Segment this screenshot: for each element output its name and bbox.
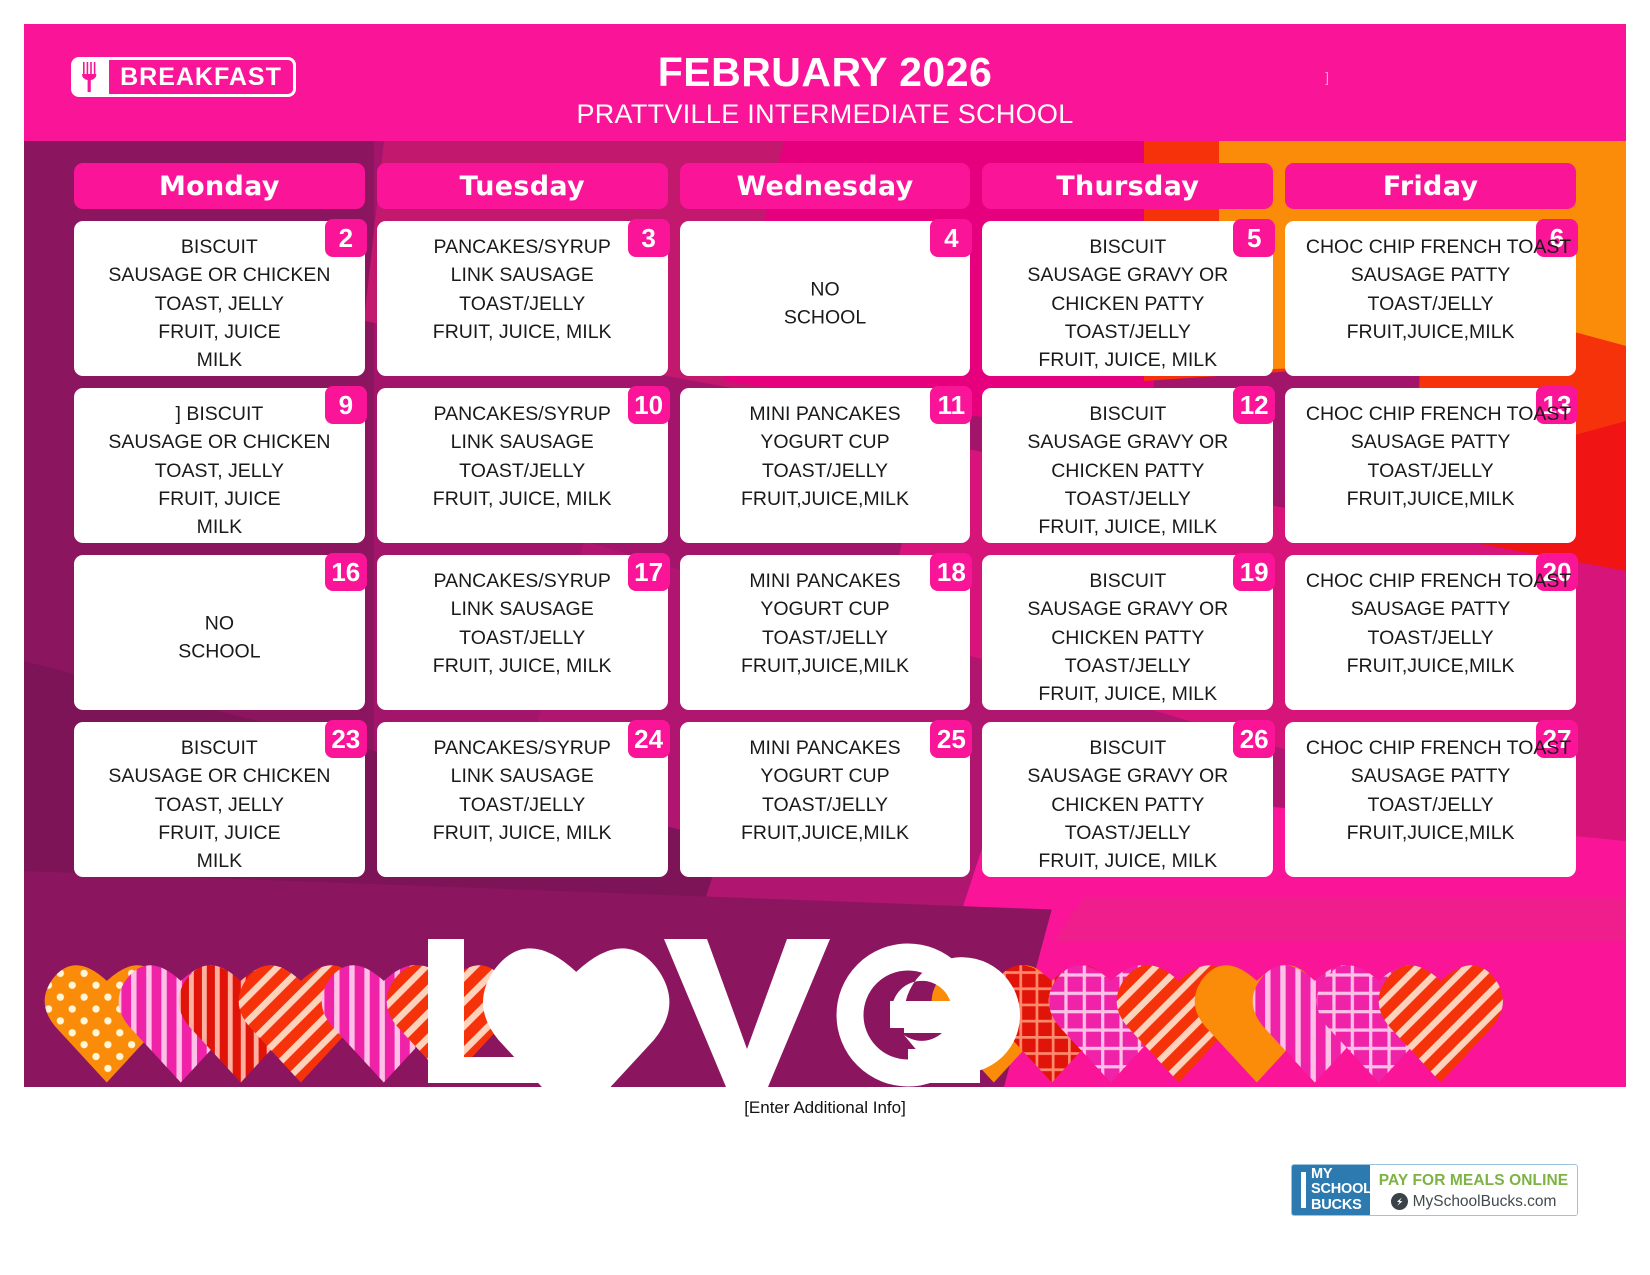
menu-line: BISCUIT <box>992 400 1263 428</box>
date-badge: 5 <box>1233 219 1275 257</box>
menu-line: TOAST/JELLY <box>387 624 658 652</box>
menu-line: YOGURT CUP <box>690 595 961 623</box>
menu-text: CHOC CHIP FRENCH TOASTSAUSAGE PATTYTOAST… <box>1295 233 1566 346</box>
menu-line: SAUSAGE GRAVY OR <box>992 261 1263 289</box>
calendar-day-23[interactable]: 23BISCUITSAUSAGE OR CHICKENTOAST, JELLYF… <box>74 722 365 877</box>
menu-line: LINK SAUSAGE <box>387 762 658 790</box>
menu-line: TOAST/JELLY <box>992 318 1263 346</box>
menu-line: CHICKEN PATTY <box>992 791 1263 819</box>
menu-line: TOAST/JELLY <box>1295 457 1566 485</box>
msb-brand-line3: BUCKS <box>1311 1198 1372 1214</box>
menu-line: MINI PANCAKES <box>690 567 961 595</box>
date-badge: 26 <box>1233 720 1275 758</box>
menu-text: MINI PANCAKESYOGURT CUPTOAST/JELLYFRUIT,… <box>690 567 961 680</box>
week-row: 16NOSCHOOL17PANCAKES/SYRUPLINK SAUSAGETO… <box>74 555 1576 710</box>
msb-brand-line2: SCHOOL <box>1311 1182 1372 1198</box>
menu-text: MINI PANCAKESYOGURT CUPTOAST/JELLYFRUIT,… <box>690 400 961 513</box>
calendar-day-11[interactable]: 11MINI PANCAKESYOGURT CUPTOAST/JELLYFRUI… <box>680 388 971 543</box>
menu-line: TOAST/JELLY <box>992 652 1263 680</box>
menu-line: FRUIT, JUICE <box>84 485 355 513</box>
menu-line: BISCUIT <box>84 734 355 762</box>
menu-line: MILK <box>84 513 355 541</box>
menu-line: MILK <box>84 847 355 875</box>
menu-line: CHOC CHIP FRENCH TOAST <box>1303 567 1574 595</box>
menu-line: BISCUIT <box>992 734 1263 762</box>
menu-line: FRUIT,JUICE,MILK <box>1295 819 1566 847</box>
calendar-day-20[interactable]: 20CHOC CHIP FRENCH TOASTSAUSAGE PATTYTOA… <box>1285 555 1576 710</box>
date-badge: 11 <box>930 386 972 424</box>
menu-line: MILK <box>84 346 355 374</box>
calendar-day-6[interactable]: 6CHOC CHIP FRENCH TOASTSAUSAGE PATTYTOAS… <box>1285 221 1576 376</box>
menu-line: FRUIT, JUICE, MILK <box>992 346 1263 374</box>
love-artwork <box>24 897 1626 1087</box>
menu-line: CHICKEN PATTY <box>992 290 1263 318</box>
msb-brand-line1: MY <box>1311 1167 1372 1183</box>
menu-line: CHOC CHIP FRENCH TOAST <box>1303 734 1574 762</box>
day-header-friday: Friday <box>1285 163 1576 209</box>
menu-line: SCHOOL <box>680 303 971 331</box>
additional-info: [Enter Additional Info] <box>0 1098 1650 1118</box>
menu-line: LINK SAUSAGE <box>387 595 658 623</box>
menu-line: CHOC CHIP FRENCH TOAST <box>1303 400 1574 428</box>
menu-line: PANCAKES/SYRUP <box>387 233 658 261</box>
msb-brand-text: MY SCHOOL BUCKS <box>1311 1167 1372 1214</box>
menu-line: TOAST/JELLY <box>992 819 1263 847</box>
menu-line: FRUIT, JUICE, MILK <box>387 819 658 847</box>
page-header: BREAKFAST FEBRUARY 2026 PRATTVILLE INTER… <box>24 24 1626 141</box>
menu-line: TOAST/JELLY <box>387 457 658 485</box>
msb-url: MySchoolBucks.com <box>1413 1193 1557 1211</box>
menu-line: FRUIT, JUICE, MILK <box>387 485 658 513</box>
menu-line: PANCAKES/SYRUP <box>387 734 658 762</box>
menu-line: TOAST/JELLY <box>992 485 1263 513</box>
menu-line: TOAST, JELLY <box>84 290 355 318</box>
menu-line: SAUSAGE OR CHICKEN <box>84 428 355 456</box>
calendar-day-12[interactable]: 12BISCUITSAUSAGE GRAVY ORCHICKEN PATTYTO… <box>982 388 1273 543</box>
menu-line: BISCUIT <box>992 233 1263 261</box>
menu-line: SAUSAGE OR CHICKEN <box>84 762 355 790</box>
menu-text: NOSCHOOL <box>74 609 365 666</box>
menu-text: BISCUITSAUSAGE GRAVY ORCHICKEN PATTYTOAS… <box>992 400 1263 541</box>
menu-text: PANCAKES/SYRUPLINK SAUSAGETOAST/JELLYFRU… <box>387 734 658 847</box>
menu-line: TOAST, JELLY <box>84 791 355 819</box>
menu-line: SAUSAGE PATTY <box>1295 428 1566 456</box>
menu-line: TOAST/JELLY <box>387 791 658 819</box>
calendar-day-19[interactable]: 19BISCUITSAUSAGE GRAVY ORCHICKEN PATTYTO… <box>982 555 1273 710</box>
menu-text: BISCUITSAUSAGE GRAVY ORCHICKEN PATTYTOAS… <box>992 233 1263 374</box>
date-badge: 9 <box>325 386 367 424</box>
menu-line: CHICKEN PATTY <box>992 457 1263 485</box>
menu-line: BISCUIT <box>84 233 355 261</box>
menu-line: TOAST/JELLY <box>690 791 961 819</box>
calendar-day-4[interactable]: 4NOSCHOOL <box>680 221 971 376</box>
calendar-day-17[interactable]: 17PANCAKES/SYRUPLINK SAUSAGETOAST/JELLYF… <box>377 555 668 710</box>
menu-text: BISCUITSAUSAGE GRAVY ORCHICKEN PATTYTOAS… <box>992 567 1263 708</box>
menu-line: SAUSAGE GRAVY OR <box>992 595 1263 623</box>
date-badge: 19 <box>1233 553 1275 591</box>
menu-line: TOAST/JELLY <box>1295 624 1566 652</box>
day-header-thursday: Thursday <box>982 163 1273 209</box>
menu-line: NO <box>74 609 365 637</box>
menu-line: FRUIT, JUICE, MILK <box>992 847 1263 875</box>
menu-line: SAUSAGE PATTY <box>1295 261 1566 289</box>
menu-text: PANCAKES/SYRUPLINK SAUSAGETOAST/JELLYFRU… <box>387 233 658 346</box>
menu-line: TOAST/JELLY <box>690 624 961 652</box>
menu-line: TOAST/JELLY <box>387 290 658 318</box>
menu-line: SAUSAGE PATTY <box>1295 595 1566 623</box>
school-name: PRATTVILLE INTERMEDIATE SCHOOL <box>24 99 1626 130</box>
menu-line: MINI PANCAKES <box>690 734 961 762</box>
day-header-label: Monday <box>159 171 280 202</box>
menu-text: CHOC CHIP FRENCH TOASTSAUSAGE PATTYTOAST… <box>1295 567 1566 680</box>
menu-line: FRUIT,JUICE,MILK <box>1295 652 1566 680</box>
date-badge: 16 <box>325 553 367 591</box>
menu-text: BISCUITSAUSAGE OR CHICKENTOAST, JELLYFRU… <box>84 734 355 875</box>
menu-line: FRUIT, JUICE, MILK <box>992 513 1263 541</box>
date-badge: 25 <box>930 720 972 758</box>
menu-line: TOAST/JELLY <box>1295 791 1566 819</box>
menu-line: FRUIT, JUICE, MILK <box>387 318 658 346</box>
menu-line: YOGURT CUP <box>690 428 961 456</box>
menu-text: CHOC CHIP FRENCH TOASTSAUSAGE PATTYTOAST… <box>1295 734 1566 847</box>
calendar-grid: MondayTuesdayWednesdayThursdayFriday 2BI… <box>24 141 1626 901</box>
day-header-label: Friday <box>1383 171 1478 202</box>
calendar-day-18[interactable]: 18MINI PANCAKESYOGURT CUPTOAST/JELLYFRUI… <box>680 555 971 710</box>
menu-line: PANCAKES/SYRUP <box>387 400 658 428</box>
date-badge: 2 <box>325 219 367 257</box>
menu-line: ] BISCUIT <box>84 400 355 428</box>
menu-line: SCHOOL <box>74 637 365 665</box>
date-badge: 23 <box>325 720 367 758</box>
calendar-day-24[interactable]: 24PANCAKES/SYRUPLINK SAUSAGETOAST/JELLYF… <box>377 722 668 877</box>
day-header-wednesday: Wednesday <box>680 163 971 209</box>
date-badge: 24 <box>628 720 670 758</box>
day-header-tuesday: Tuesday <box>377 163 668 209</box>
menu-line: NO <box>680 275 971 303</box>
menu-line: CHICKEN PATTY <box>992 624 1263 652</box>
menu-line: TOAST/JELLY <box>690 457 961 485</box>
menu-line: LINK SAUSAGE <box>387 261 658 289</box>
menu-line: FRUIT, JUICE, MILK <box>387 652 658 680</box>
calendar-day-10[interactable]: 10PANCAKES/SYRUPLINK SAUSAGETOAST/JELLYF… <box>377 388 668 543</box>
menu-line: SAUSAGE PATTY <box>1295 762 1566 790</box>
menu-line: SAUSAGE OR CHICKEN <box>84 261 355 289</box>
menu-line: FRUIT, JUICE <box>84 819 355 847</box>
menu-line: SAUSAGE GRAVY OR <box>992 428 1263 456</box>
menu-text: BISCUITSAUSAGE GRAVY ORCHICKEN PATTYTOAS… <box>992 734 1263 875</box>
love-decoration <box>24 897 1626 1087</box>
date-badge: 18 <box>930 553 972 591</box>
date-badge: 4 <box>930 219 972 257</box>
date-badge: 12 <box>1233 386 1275 424</box>
calendar-page: BREAKFAST FEBRUARY 2026 PRATTVILLE INTER… <box>0 0 1650 1275</box>
menu-line: FRUIT, JUICE, MILK <box>992 680 1263 708</box>
day-header-row: MondayTuesdayWednesdayThursdayFriday <box>74 163 1576 209</box>
calendar-day-2[interactable]: 2BISCUITSAUSAGE OR CHICKENTOAST, JELLYFR… <box>74 221 365 376</box>
menu-line: YOGURT CUP <box>690 762 961 790</box>
menu-line: FRUIT,JUICE,MILK <box>1295 318 1566 346</box>
day-header-label: Wednesday <box>736 171 913 202</box>
menu-line: SAUSAGE GRAVY OR <box>992 762 1263 790</box>
menu-line: FRUIT, JUICE <box>84 318 355 346</box>
menu-text: PANCAKES/SYRUPLINK SAUSAGETOAST/JELLYFRU… <box>387 567 658 680</box>
menu-text: BISCUITSAUSAGE OR CHICKENTOAST, JELLYFRU… <box>84 233 355 374</box>
calendar-board: MondayTuesdayWednesdayThursdayFriday 2BI… <box>24 141 1626 1087</box>
calendar-day-9[interactable]: 9] BISCUITSAUSAGE OR CHICKENTOAST, JELLY… <box>74 388 365 543</box>
menu-line: CHOC CHIP FRENCH TOAST <box>1303 233 1574 261</box>
menu-line: MINI PANCAKES <box>690 400 961 428</box>
msb-circle-icon <box>1391 1193 1408 1210</box>
msb-bar-icon <box>1301 1172 1306 1208</box>
menu-line: FRUIT,JUICE,MILK <box>690 819 961 847</box>
msb-url-row[interactable]: MySchoolBucks.com <box>1391 1193 1557 1211</box>
menu-text: NOSCHOOL <box>680 275 971 332</box>
week-rows: 2BISCUITSAUSAGE OR CHICKENTOAST, JELLYFR… <box>74 221 1576 877</box>
calendar-day-5[interactable]: 5BISCUITSAUSAGE GRAVY ORCHICKEN PATTYTOA… <box>982 221 1273 376</box>
menu-line: FRUIT,JUICE,MILK <box>690 485 961 513</box>
menu-line: FRUIT,JUICE,MILK <box>690 652 961 680</box>
msb-tagline: PAY FOR MEALS ONLINE <box>1379 1172 1568 1190</box>
header-titles: FEBRUARY 2026 PRATTVILLE INTERMEDIATE SC… <box>24 24 1626 130</box>
menu-line: LINK SAUSAGE <box>387 428 658 456</box>
week-row: 23BISCUITSAUSAGE OR CHICKENTOAST, JELLYF… <box>74 722 1576 877</box>
day-header-monday: Monday <box>74 163 365 209</box>
menu-text: MINI PANCAKESYOGURT CUPTOAST/JELLYFRUIT,… <box>690 734 961 847</box>
calendar-day-13[interactable]: 13CHOC CHIP FRENCH TOASTSAUSAGE PATTYTOA… <box>1285 388 1576 543</box>
menu-text: CHOC CHIP FRENCH TOASTSAUSAGE PATTYTOAST… <box>1295 400 1566 513</box>
week-row: 9] BISCUITSAUSAGE OR CHICKENTOAST, JELLY… <box>74 388 1576 543</box>
date-badge: 17 <box>628 553 670 591</box>
calendar-day-26[interactable]: 26BISCUITSAUSAGE GRAVY ORCHICKEN PATTYTO… <box>982 722 1273 877</box>
menu-text: ] BISCUITSAUSAGE OR CHICKENTOAST, JELLYF… <box>84 400 355 541</box>
day-header-label: Thursday <box>1056 171 1199 202</box>
msb-message-box: PAY FOR MEALS ONLINE MySchoolBucks.com <box>1370 1165 1577 1215</box>
myschoolbucks-logo[interactable]: MY SCHOOL BUCKS PAY FOR MEALS ONLINE MyS… <box>1291 1164 1578 1216</box>
header-stray-mark: ] <box>1325 69 1329 85</box>
page-title: FEBRUARY 2026 <box>24 51 1626 94</box>
menu-line: TOAST, JELLY <box>84 457 355 485</box>
menu-text: PANCAKES/SYRUPLINK SAUSAGETOAST/JELLYFRU… <box>387 400 658 513</box>
date-badge: 10 <box>628 386 670 424</box>
menu-line: PANCAKES/SYRUP <box>387 567 658 595</box>
calendar-day-3[interactable]: 3PANCAKES/SYRUPLINK SAUSAGETOAST/JELLYFR… <box>377 221 668 376</box>
menu-line: TOAST/JELLY <box>1295 290 1566 318</box>
msb-brand-box: MY SCHOOL BUCKS <box>1292 1165 1370 1215</box>
menu-line: FRUIT,JUICE,MILK <box>1295 485 1566 513</box>
calendar-day-27[interactable]: 27CHOC CHIP FRENCH TOASTSAUSAGE PATTYTOA… <box>1285 722 1576 877</box>
date-badge: 3 <box>628 219 670 257</box>
week-row: 2BISCUITSAUSAGE OR CHICKENTOAST, JELLYFR… <box>74 221 1576 376</box>
calendar-day-25[interactable]: 25MINI PANCAKESYOGURT CUPTOAST/JELLYFRUI… <box>680 722 971 877</box>
calendar-day-16[interactable]: 16NOSCHOOL <box>74 555 365 710</box>
menu-line: BISCUIT <box>992 567 1263 595</box>
day-header-label: Tuesday <box>459 171 584 202</box>
